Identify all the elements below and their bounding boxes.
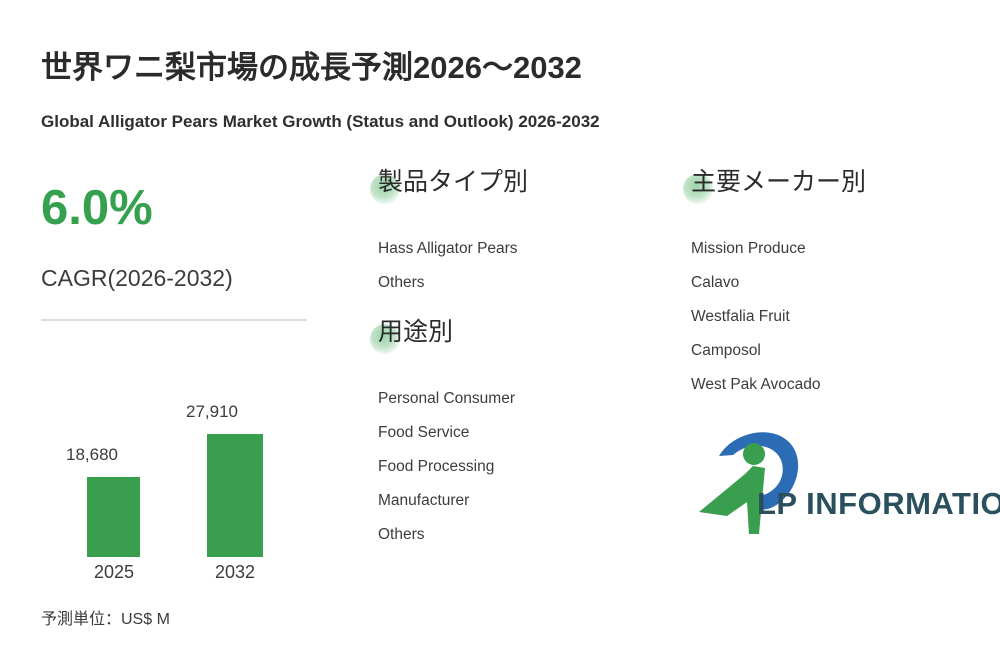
list-item: West Pak Avocado — [691, 368, 821, 402]
chart-unit-note: 予測単位：US$ M — [41, 605, 170, 629]
segment-list-application: Personal Consumer Food Service Food Proc… — [378, 382, 515, 552]
infographic-page: 世界ワニ梨市場の成長予測2026～2032 Global Alligator P… — [0, 0, 1000, 663]
bar-category-2025: 2025 — [62, 562, 166, 583]
segment-heading-application: 用途別 — [378, 320, 453, 345]
segment-heading-product-type: 製品タイプ別 — [378, 170, 528, 195]
list-item: Food Processing — [378, 450, 515, 484]
logo-wordmark: LP INFORMATION — [757, 486, 1000, 522]
list-item: Personal Consumer — [378, 382, 515, 416]
segment-heading-label: 用途別 — [378, 318, 453, 346]
segment-heading-manufacturer: 主要メーカー別 — [691, 170, 866, 195]
list-item: Food Service — [378, 416, 515, 450]
bar-value-2032: 27,910 — [162, 402, 262, 422]
cagr-value: 6.0% — [41, 184, 153, 233]
list-item: Calavo — [691, 266, 821, 300]
segment-list-product-type: Hass Alligator Pears Others — [378, 232, 518, 300]
segment-heading-label: 製品タイプ別 — [378, 168, 528, 196]
bar-2032 — [207, 434, 263, 557]
list-item: Westfalia Fruit — [691, 300, 821, 334]
list-item: Manufacturer — [378, 484, 515, 518]
list-item: Others — [378, 266, 518, 300]
segment-column-middle: 製品タイプ別 Hass Alligator Pears Others 用途別 P… — [378, 0, 678, 663]
section-divider — [41, 319, 307, 321]
bar-category-2032: 2032 — [183, 562, 287, 583]
segment-column-right: 主要メーカー別 Mission Produce Calavo Westfalia… — [691, 0, 1000, 663]
bar-value-2025: 18,680 — [47, 445, 137, 465]
list-item: Camposol — [691, 334, 821, 368]
company-logo: LP INFORMATION — [691, 424, 1000, 539]
list-item: Hass Alligator Pears — [378, 232, 518, 266]
list-item: Others — [378, 518, 515, 552]
list-item: Mission Produce — [691, 232, 821, 266]
segment-heading-label: 主要メーカー別 — [691, 168, 866, 196]
segment-list-manufacturer: Mission Produce Calavo Westfalia Fruit C… — [691, 232, 821, 402]
market-size-bar-chart: 18,680 2025 27,910 2032 予測単位：US$ M — [41, 390, 331, 620]
bar-2025 — [87, 477, 140, 557]
cagr-label: CAGR(2026-2032) — [41, 265, 233, 292]
